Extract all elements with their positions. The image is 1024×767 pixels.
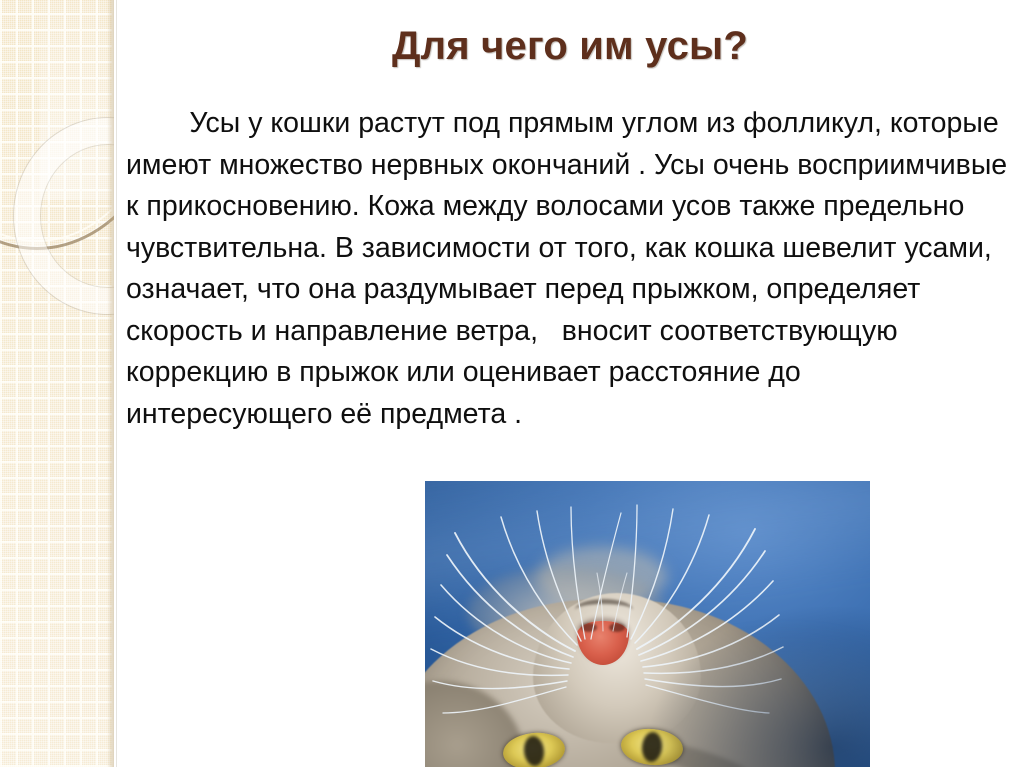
cat-photograph xyxy=(425,481,870,767)
photo-corner-shadow xyxy=(650,607,870,767)
sidebar-divider-line xyxy=(116,0,117,767)
slide-body-text: Усы у кошки растут под прямым углом из ф… xyxy=(126,103,1012,435)
slide-title: Для чего им усы? xyxy=(116,24,1024,69)
decorative-sidebar xyxy=(0,0,114,767)
slide-canvas: Для чего им усы? Усы у кошки растут под … xyxy=(0,0,1024,767)
sidebar-edge-shading xyxy=(107,0,114,767)
